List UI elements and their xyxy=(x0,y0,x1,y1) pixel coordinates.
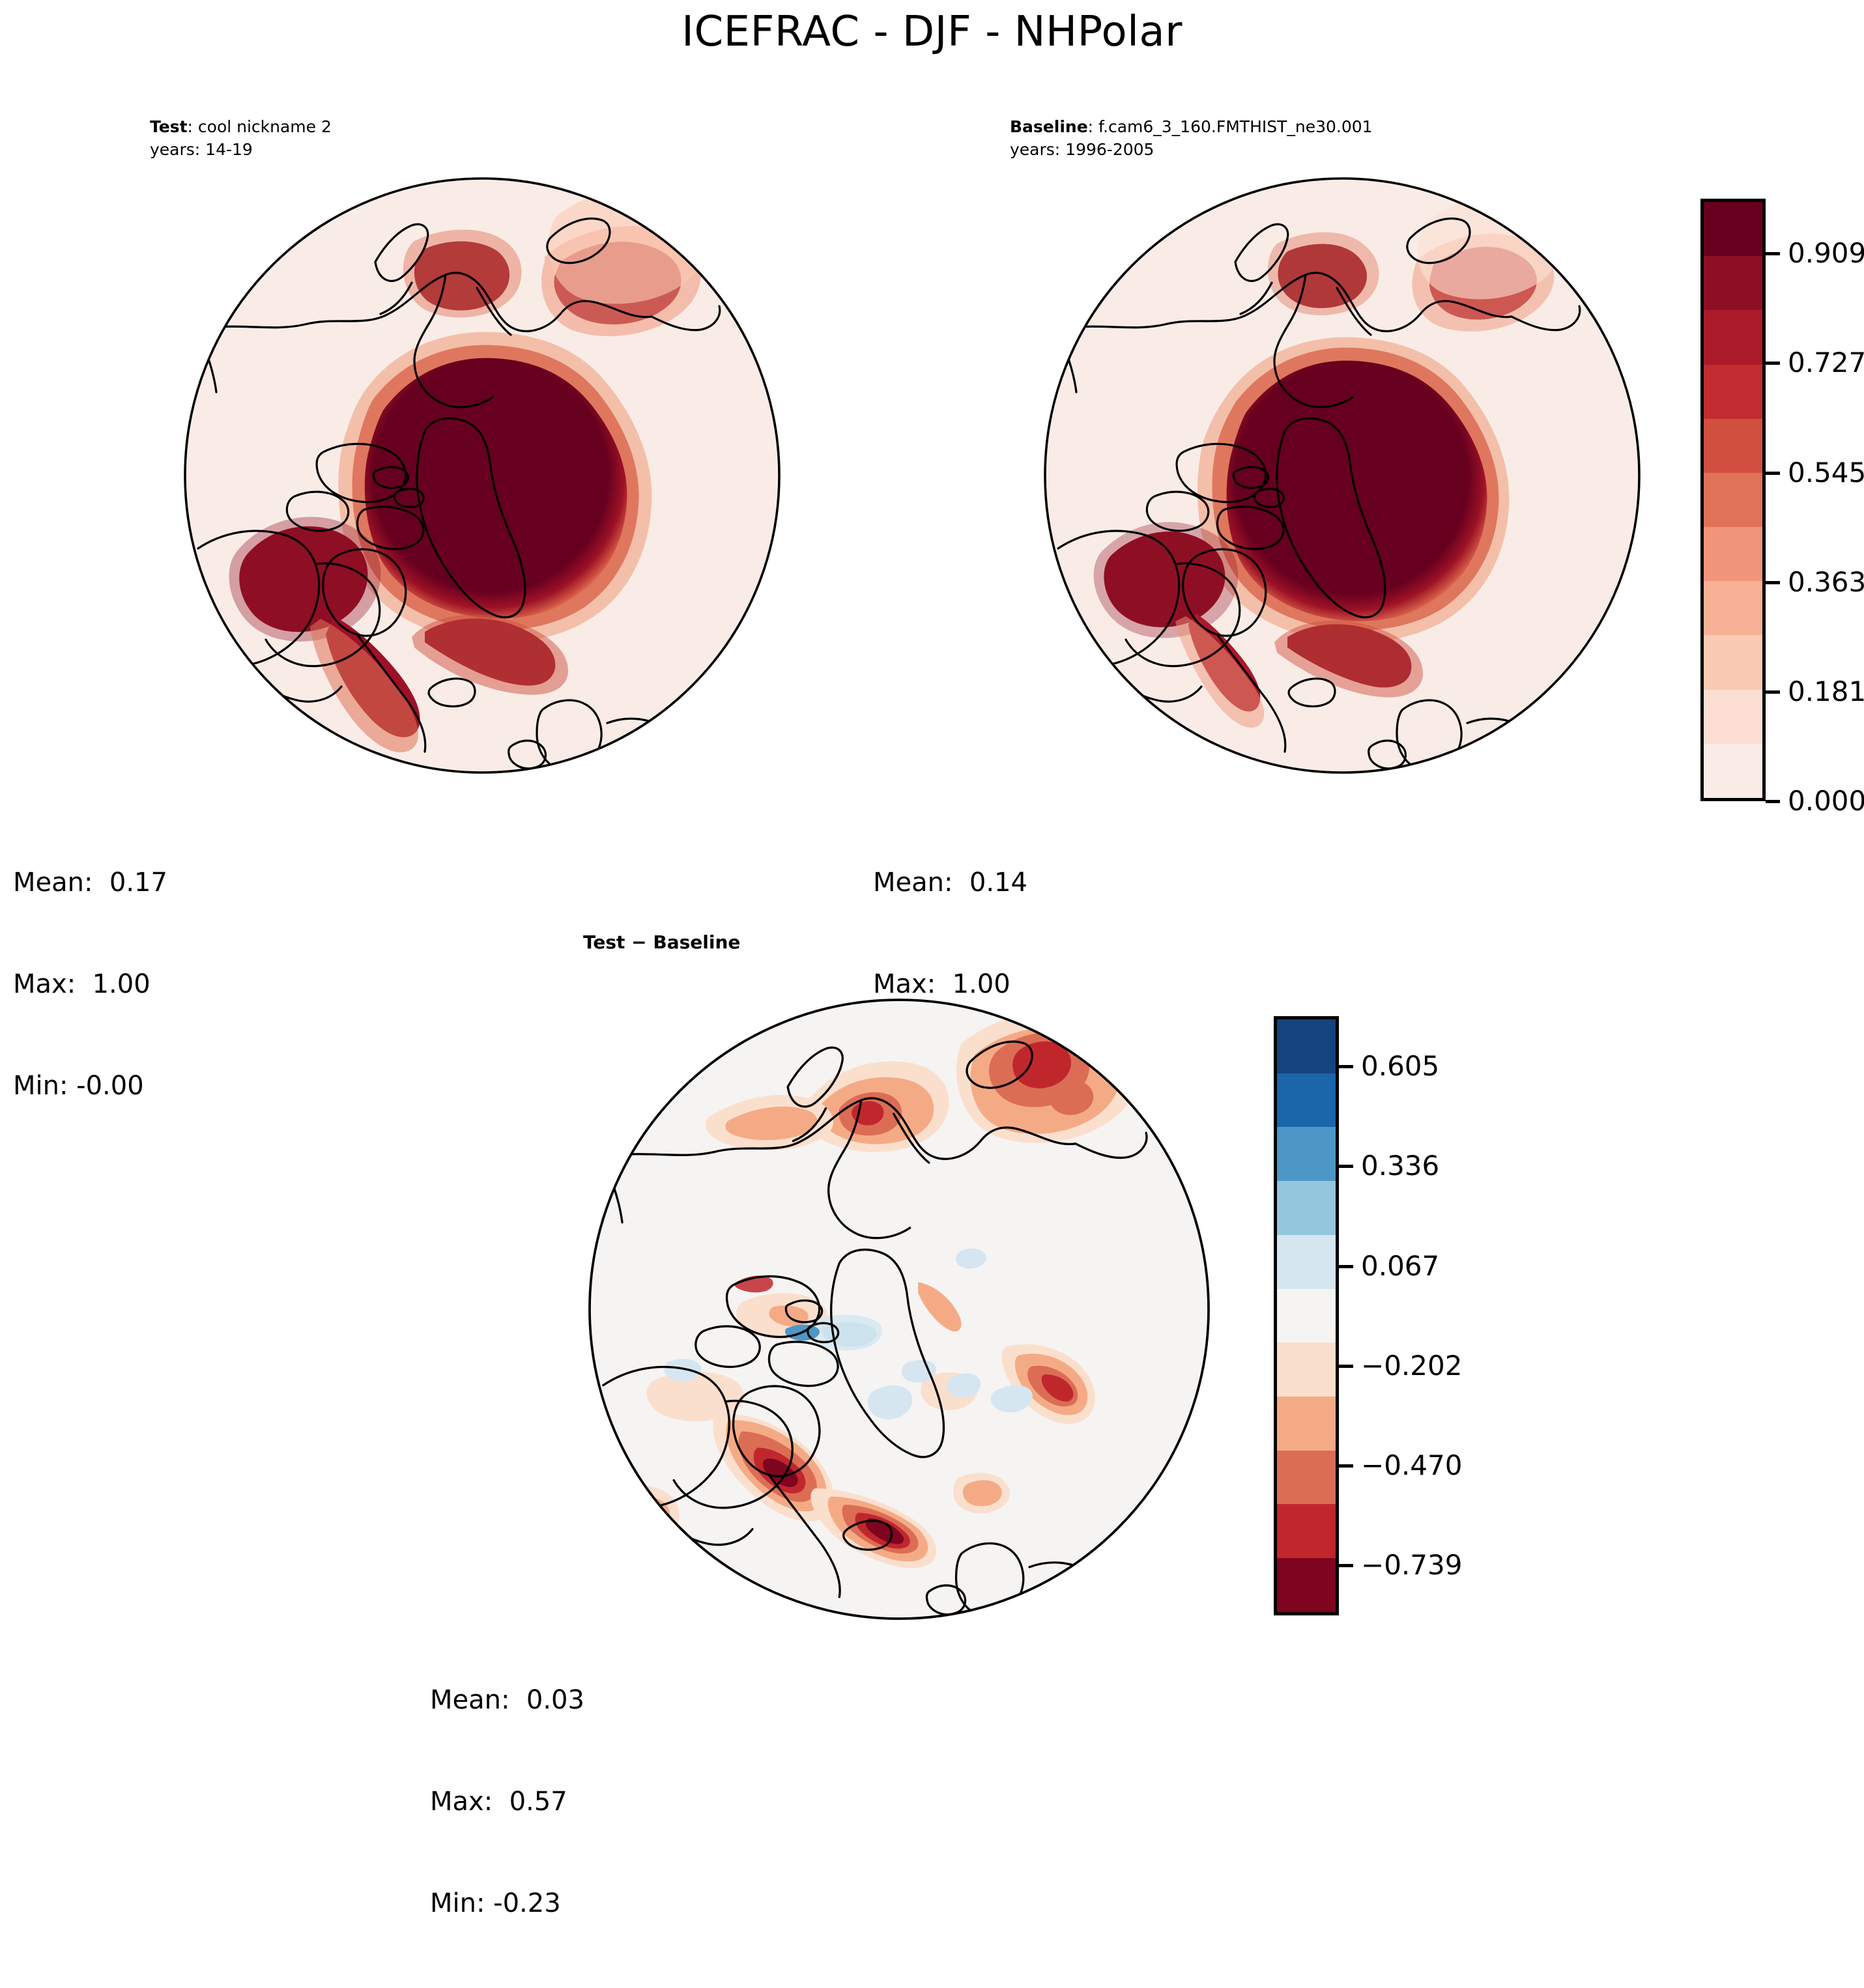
colorbar-band xyxy=(1704,365,1762,419)
difference-title: Test − Baseline xyxy=(583,931,740,953)
colorbar-band xyxy=(1277,1397,1336,1451)
colorbar-tick-label: 0.067 xyxy=(1361,1253,1439,1280)
colorbar-band xyxy=(1704,690,1762,744)
colorbar-difference[interactable]: 0.6050.3360.067−0.202−0.470−0.739 xyxy=(1274,1016,1443,1615)
panel-baseline: Baseline: f.cam6_3_160.FMTHIST_ne30.001 … xyxy=(860,98,1707,912)
ice-okhotsk xyxy=(193,666,247,711)
colorbar-band xyxy=(1704,473,1762,527)
difference-stat-max: Max: 0.57 xyxy=(430,1785,584,1819)
colorbar-main-body xyxy=(1700,199,1766,801)
colorbar-tick-label: 0.1818 xyxy=(1788,678,1864,705)
difference-stats: Mean: 0.03 Max: 0.57 Min: -0.23 xyxy=(430,1615,584,1988)
baseline-map[interactable] xyxy=(1029,163,1655,788)
colorbar-tick xyxy=(1339,1065,1353,1068)
colorbar-main[interactable]: 0.90900.72720.54540.36360.18180.0000 xyxy=(1700,199,1857,801)
colorbar-band xyxy=(1277,1235,1336,1289)
colorbar-band xyxy=(1704,744,1762,798)
panel-test: Test: cool nickname 2 years: 14-19 xyxy=(0,98,847,912)
difference-stat-mean: Mean: 0.03 xyxy=(430,1683,584,1717)
test-panel-caption: Test: cool nickname 2 years: 14-19 xyxy=(150,116,332,161)
colorbar-tick-label: 0.7272 xyxy=(1788,349,1864,376)
test-stat-min: Min: -0.00 xyxy=(13,1069,167,1103)
colorbar-band xyxy=(1704,202,1762,256)
colorbar-difference-body xyxy=(1274,1016,1339,1615)
colorbar-tick-label: −0.202 xyxy=(1361,1352,1462,1380)
ice-okhotsk xyxy=(1057,668,1104,709)
baseline-panel-caption: Baseline: f.cam6_3_160.FMTHIST_ne30.001 … xyxy=(1010,116,1373,161)
panel-difference: Test − Baseline xyxy=(456,912,1368,1733)
colorbar-band xyxy=(1704,581,1762,635)
colorbar-tick xyxy=(1766,362,1780,365)
difference-stat-min: Min: -0.23 xyxy=(430,1886,584,1920)
figure-canvas: ICEFRAC - DJF - NHPolar Test: cool nickn… xyxy=(0,0,1864,1737)
colorbar-band xyxy=(1704,419,1762,473)
colorbar-tick xyxy=(1339,1365,1353,1368)
colorbar-band xyxy=(1277,1181,1336,1235)
diff-pos-sw-mid xyxy=(607,1495,670,1537)
difference-map[interactable] xyxy=(573,984,1225,1635)
colorbar-tick xyxy=(1766,800,1780,803)
colorbar-tick-label: 0.336 xyxy=(1361,1152,1439,1180)
colorbar-band xyxy=(1704,256,1762,310)
colorbar-tick xyxy=(1339,1165,1353,1168)
diff-pos-sw-in xyxy=(621,1505,660,1531)
colorbar-tick xyxy=(1339,1564,1353,1567)
colorbar-tick xyxy=(1766,690,1780,694)
ice-okhotsk-halo xyxy=(182,654,257,719)
colorbar-band xyxy=(1277,1127,1336,1181)
ice-okhotsk-halo xyxy=(1044,656,1116,718)
colorbar-band xyxy=(1277,1504,1336,1558)
colorbar-tick xyxy=(1339,1265,1353,1268)
colorbar-tick-label: 0.3636 xyxy=(1788,569,1864,596)
colorbar-tick-label: 0.0000 xyxy=(1788,788,1864,815)
colorbar-band xyxy=(1277,1558,1336,1612)
colorbar-tick-label: 0.9090 xyxy=(1788,240,1864,267)
test-map[interactable] xyxy=(169,163,795,788)
colorbar-tick xyxy=(1766,472,1780,475)
test-label-bold: Test: cool nickname 2 xyxy=(150,117,332,136)
test-stat-max: Max: 1.00 xyxy=(13,967,167,1001)
colorbar-tick xyxy=(1766,581,1780,584)
colorbar-band xyxy=(1704,527,1762,581)
colorbar-band xyxy=(1277,1451,1336,1505)
test-years: years: 14-19 xyxy=(150,140,253,159)
page-title: ICEFRAC - DJF - NHPolar xyxy=(0,8,1864,56)
test-stat-mean: Mean: 0.17 xyxy=(13,866,167,900)
colorbar-tick xyxy=(1339,1464,1353,1468)
colorbar-band xyxy=(1704,635,1762,689)
colorbar-band xyxy=(1277,1342,1336,1397)
colorbar-band xyxy=(1704,310,1762,364)
colorbar-tick xyxy=(1766,252,1780,255)
colorbar-band xyxy=(1277,1073,1336,1128)
baseline-years: years: 1996-2005 xyxy=(1010,140,1154,159)
baseline-stat-mean: Mean: 0.14 xyxy=(873,866,1027,900)
colorbar-tick-label: 0.5454 xyxy=(1788,459,1864,487)
colorbar-band xyxy=(1277,1289,1336,1343)
baseline-label-bold: Baseline: f.cam6_3_160.FMTHIST_ne30.001 xyxy=(1010,117,1373,136)
colorbar-tick-label: −0.470 xyxy=(1361,1452,1462,1479)
test-stats: Mean: 0.17 Max: 1.00 Min: -0.00 xyxy=(13,798,167,1171)
colorbar-tick-label: 0.605 xyxy=(1361,1053,1439,1080)
colorbar-tick-label: −0.739 xyxy=(1361,1552,1462,1579)
colorbar-band xyxy=(1277,1019,1336,1073)
